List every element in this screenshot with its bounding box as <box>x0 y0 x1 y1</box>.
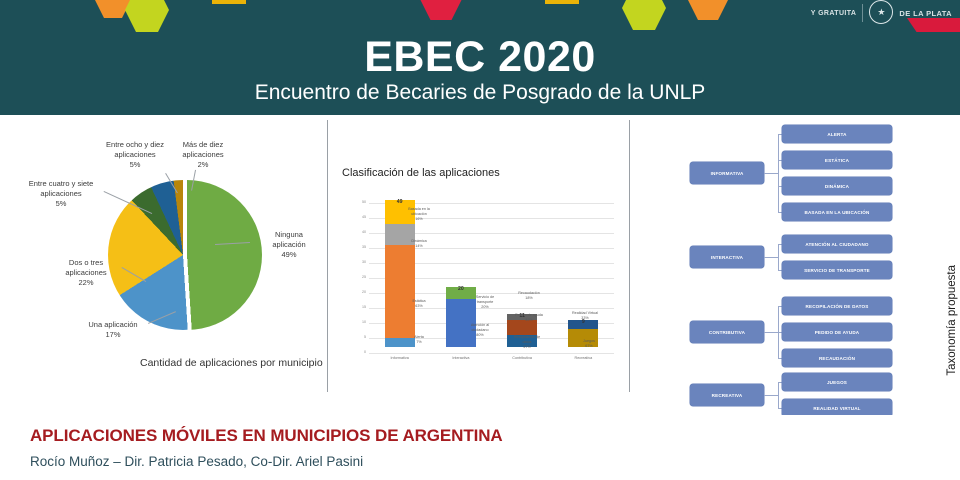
taxonomy-child-label: BASADA EN LA UBICACIÓN <box>805 210 870 215</box>
taxonomy-parent-label: INFORMATIVA <box>711 171 744 176</box>
footer-authors: Rocío Muñoz – Dir. Patricia Pesado, Co-D… <box>30 454 363 469</box>
annotation-name: Basada en la ubicación <box>408 207 430 216</box>
bar-y-tick: 35 <box>350 246 366 250</box>
annotation-pct: 37% <box>523 345 530 349</box>
taxonomy-connector <box>764 173 778 174</box>
bar-annotation-estática: Estática63% <box>402 299 436 309</box>
bar-segment-estática <box>385 245 415 338</box>
university-crest-icon: ★ <box>869 0 893 24</box>
pie-label-3: Entre cuatro y siete aplicaciones5% <box>22 179 100 209</box>
taxonomy-child-juegos[interactable]: JUEGOS <box>782 373 892 391</box>
hexagon-lime-1 <box>125 0 169 32</box>
bar-annotation-atención-al-ciudadano: Atención al ciudadano80% <box>463 323 497 337</box>
pie-label-5: Más de diez aplicaciones2% <box>172 140 234 170</box>
slide-footer: APLICACIONES MÓVILES EN MUNICIPIOS DE AR… <box>0 415 960 480</box>
taxonomy-child-estática[interactable]: ESTÁTICA <box>782 151 892 169</box>
annotation-name: Recopilación de datos <box>514 335 540 344</box>
annotation-name: Juegos <box>583 339 595 343</box>
pie-label-text: Una aplicación <box>88 320 137 329</box>
footer-title: APLICACIONES MÓVILES EN MUNICIPIOS DE AR… <box>30 426 503 446</box>
annotation-name: Atención al ciudadano <box>471 323 489 332</box>
bar-annotation-juegos: Juegos67% <box>572 339 606 349</box>
bar-y-tick: 40 <box>350 231 366 235</box>
presentation-slide: Y GRATUITA ★ DE LA PLATA EBEC 2020 Encue… <box>0 0 960 480</box>
bar-chart-title: Clasificación de las aplicaciones <box>342 167 500 179</box>
bar-annotation-servicio-de-transporte: Servicio de transporte20% <box>468 295 502 309</box>
bar-annotation-pedido-de-ayuda: Pedido de ayuda45% <box>512 313 546 323</box>
annotation-pct: 16% <box>415 217 422 221</box>
bar-x-category: Recreativa <box>556 356 610 357</box>
panel-divider-right <box>629 120 630 392</box>
hexagon-orange-2 <box>688 0 728 20</box>
taxonomy-connector <box>764 332 778 333</box>
bar-y-tick: 10 <box>350 321 366 325</box>
pie-label-2: Dos o tres aplicaciones22% <box>48 258 124 288</box>
bar-y-tick: 0 <box>350 351 366 355</box>
pie-chart-panel: Ninguna aplicación49%Una aplicación17%Do… <box>0 115 327 415</box>
pie-label-text: Entre cuatro y siete aplicaciones <box>29 179 94 198</box>
bar-chart-plot: 5045403530252015105049Informativa20Inter… <box>350 195 618 355</box>
taxonomy-child-label: SERVICIO DE TRANSPORTE <box>804 268 870 273</box>
bar-y-tick: 45 <box>350 216 366 220</box>
taxonomy-parent-contributiva[interactable]: CONTRIBUTIVA <box>690 321 764 343</box>
annotation-name: Pedido de ayuda <box>515 313 543 317</box>
hexagon-crimson-1 <box>420 0 462 20</box>
slide-body: Ninguna aplicación49%Una aplicación17%Do… <box>0 115 960 415</box>
logo-right-text: DE LA PLATA <box>899 0 952 19</box>
annotation-pct: 7% <box>416 340 421 344</box>
pie-label-0: Ninguna aplicación49% <box>258 230 320 260</box>
bar-gridline <box>369 353 614 354</box>
annotation-pct: 80% <box>476 333 483 337</box>
annotation-name: Alerta <box>414 335 424 339</box>
taxonomy-child-label: RECOPILACIÓN DE DATOS <box>806 304 869 309</box>
bar-column-informativa <box>385 200 415 347</box>
taxonomy-diagram-panel: INFORMATIVAALERTAESTÁTICADINÁMICABASADA … <box>632 115 960 415</box>
taxonomy-child-basada-en-la-ubicación[interactable]: BASADA EN LA UBICACIÓN <box>782 203 892 221</box>
taxonomy-caption: Taxonomía propuesta <box>946 265 958 376</box>
annotation-name: Realidad Virtual <box>572 311 598 315</box>
bar-y-tick: 20 <box>350 291 366 295</box>
pie-label-4: Entre ocho y diez aplicaciones5% <box>100 140 170 170</box>
taxonomy-parent-label: RECREATIVA <box>712 393 743 398</box>
annotation-pct: 33% <box>581 316 588 320</box>
annotation-name: Dinámica <box>411 239 426 243</box>
event-subtitle: Encuentro de Becaries de Posgrado de la … <box>0 82 960 103</box>
taxonomy-parent-label: CONTRIBUTIVA <box>709 330 745 335</box>
taxonomy-parent-informativa[interactable]: INFORMATIVA <box>690 162 764 184</box>
taxonomy-child-recaudación[interactable]: RECAUDACIÓN <box>782 349 892 367</box>
pie-label-value: 5% <box>130 160 141 169</box>
annotation-name: Recaudación <box>518 291 540 295</box>
pie-chart-caption: Cantidad de aplicaciones por municipio <box>140 357 330 369</box>
bar-x-category: Informativa <box>373 356 427 357</box>
panel-divider-left <box>327 120 328 392</box>
taxonomy-child-recopilación-de-datos[interactable]: RECOPILACIÓN DE DATOS <box>782 297 892 315</box>
bar-annotation-recopilación-de-datos: Recopilación de datos37% <box>510 335 544 349</box>
annotation-pct: 14% <box>415 244 422 248</box>
bar-chart-panel: Clasificación de las aplicaciones 504540… <box>330 115 629 415</box>
taxonomy-child-label: RECAUDACIÓN <box>819 356 855 361</box>
bar-y-tick: 25 <box>350 276 366 280</box>
pie-label-text: Ninguna aplicación <box>272 230 305 249</box>
pie-label-value: 49% <box>281 250 296 259</box>
header-banner: Y GRATUITA ★ DE LA PLATA EBEC 2020 Encue… <box>0 0 960 115</box>
pie-label-text: Dos o tres aplicaciones <box>65 258 106 277</box>
annotation-name: Estática <box>412 299 425 303</box>
taxonomy-connector <box>778 382 779 408</box>
taxonomy-connector <box>778 134 779 212</box>
taxonomy-child-servicio-de-transporte[interactable]: SERVICIO DE TRANSPORTE <box>782 261 892 279</box>
logo-divider <box>862 4 863 22</box>
annotation-name: Servicio de transporte <box>476 295 494 304</box>
taxonomy-child-label: ALERTA <box>827 132 846 137</box>
taxonomy-child-label: PEDIDO DE AYUDA <box>815 330 860 335</box>
taxonomy-child-pedido-de-ayuda[interactable]: PEDIDO DE AYUDA <box>782 323 892 341</box>
hexagon-lime-2 <box>622 0 666 30</box>
taxonomy-connector <box>764 395 778 396</box>
pie-label-value: 2% <box>198 160 209 169</box>
pie-label-value: 17% <box>105 330 120 339</box>
bar-annotation-basada-en-la-ubicación: Basada en la ubicación16% <box>402 207 436 221</box>
bar-total-label: 20 <box>446 286 476 292</box>
taxonomy-connector <box>778 244 779 270</box>
taxonomy-parent-label: INTERACTIVA <box>711 255 743 260</box>
annotation-pct: 45% <box>525 318 532 322</box>
bar-y-tick: 15 <box>350 306 366 310</box>
bar-yellow-2 <box>545 0 579 4</box>
annotation-pct: 20% <box>481 305 488 309</box>
bar-y-tick: 5 <box>350 336 366 340</box>
taxonomy-child-label: JUEGOS <box>827 380 847 385</box>
pie-label-1: Una aplicación17% <box>70 320 156 340</box>
bar-annotation-realidad-virtual: Realidad Virtual33% <box>568 311 602 321</box>
institution-logo: Y GRATUITA ★ DE LA PLATA <box>811 0 952 24</box>
event-title: EBEC 2020 <box>0 36 960 79</box>
bar-total-label: 49 <box>385 199 415 205</box>
annotation-pct: 18% <box>525 296 532 300</box>
bar-annotation-dinámica: Dinámica14% <box>402 239 436 249</box>
taxonomy-child-label: ATENCIÓN AL CIUDADANO <box>805 242 868 247</box>
annotation-pct: 63% <box>415 304 422 308</box>
taxonomy-child-alerta[interactable]: ALERTA <box>782 125 892 143</box>
taxonomy-connector <box>764 257 778 258</box>
taxonomy-child-atención-al-ciudadano[interactable]: ATENCIÓN AL CIUDADANO <box>782 235 892 253</box>
pie-label-text: Más de diez aplicaciones <box>182 140 223 159</box>
bar-y-tick: 50 <box>350 201 366 205</box>
pie-label-text: Entre ocho y diez aplicaciones <box>106 140 164 159</box>
bar-y-tick: 30 <box>350 261 366 265</box>
bar-annotation-recaudación: Recaudación18% <box>512 291 546 301</box>
logo-left-text: Y GRATUITA <box>811 0 857 18</box>
taxonomy-child-label: DINÁMICA <box>825 184 849 189</box>
bar-annotation-alerta: Alerta7% <box>402 335 436 345</box>
bar-yellow-1 <box>212 0 246 4</box>
taxonomy-child-label: ESTÁTICA <box>825 158 849 163</box>
bar-x-category: Contributiva <box>495 356 549 357</box>
taxonomy-parent-recreativa[interactable]: RECREATIVA <box>690 384 764 406</box>
taxonomy-child-dinámica[interactable]: DINÁMICA <box>782 177 892 195</box>
taxonomy-parent-interactiva[interactable]: INTERACTIVA <box>690 246 764 268</box>
bar-x-category: Interactiva <box>434 356 488 357</box>
pie-label-value: 5% <box>56 199 67 208</box>
pie-label-value: 22% <box>78 278 93 287</box>
taxonomy-child-label: REALIDAD VIRTUAL <box>813 406 860 411</box>
annotation-pct: 67% <box>585 344 592 348</box>
